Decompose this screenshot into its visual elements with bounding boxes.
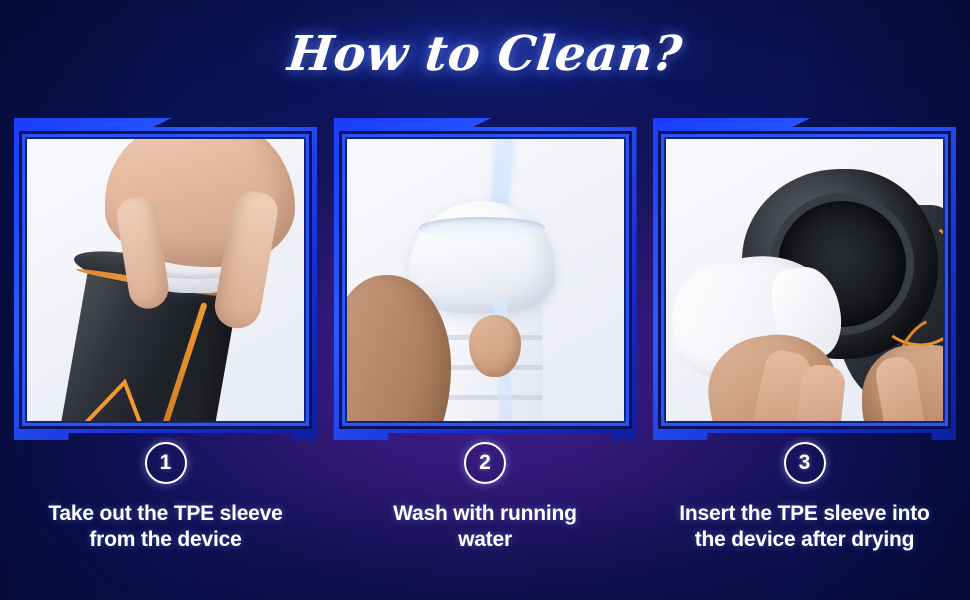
panel-row: [14, 118, 956, 440]
step-number-badge-1: 1: [145, 442, 187, 484]
step-number-badge-2: 2: [464, 442, 506, 484]
step-photo-1: [27, 139, 304, 421]
step-3: 3 Insert the TPE sleeve into the device …: [653, 442, 956, 588]
page-title: How to Clean?: [285, 26, 685, 82]
step-1: 1 Take out the TPE sleeve from the devic…: [14, 442, 317, 588]
step-panel-3: [653, 118, 956, 440]
step-panel-1: [14, 118, 317, 440]
step-caption-1: Take out the TPE sleeve from the device: [44, 501, 286, 552]
step-panel-2: [334, 118, 637, 440]
tpe-sleeve-rim-2: [419, 217, 545, 239]
step-caption-3: Insert the TPE sleeve into the device af…: [675, 501, 933, 552]
title-area: How to Clean?: [0, 26, 970, 82]
how-to-clean-infographic: How to Clean?: [0, 0, 970, 600]
step-number-badge-3: 3: [784, 442, 826, 484]
step-photo-2: [347, 139, 624, 421]
step-2: 2 Wash with running water: [334, 442, 637, 588]
step-photo-3: [666, 139, 943, 421]
thumb-illustration-2: [469, 315, 521, 377]
step-caption-2: Wash with running water: [389, 501, 581, 552]
step-caption-row: 1 Take out the TPE sleeve from the devic…: [14, 442, 956, 588]
